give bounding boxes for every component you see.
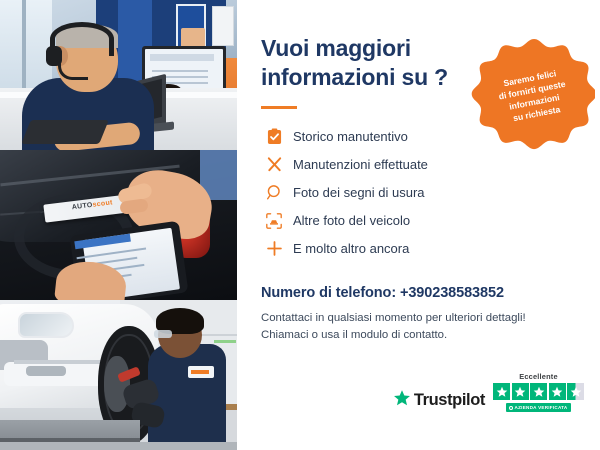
star-filled-icon (493, 383, 510, 400)
contact-subtext-line-1: Contattaci in qualsiasi momento per ulte… (261, 310, 578, 327)
feature-label: Altre foto del veicolo (293, 213, 410, 228)
feature-label: Storico manutentivo (293, 129, 408, 144)
phone-number[interactable]: Numero di telefono: +390238583852 (261, 285, 578, 301)
callout-badge: Saremo felici di fornirti queste informa… (471, 33, 595, 157)
plus-icon (261, 240, 287, 257)
page-title-line-2: informazioni su ? (261, 64, 448, 90)
trustpilot-logo: Trustpilot (393, 389, 485, 412)
star-half-icon (567, 383, 584, 400)
feature-label: E molto altro ancora (293, 241, 409, 256)
star-filled-icon (549, 383, 566, 400)
magnifier-icon (261, 184, 287, 201)
trustpilot-stars (493, 383, 584, 400)
star-filled-icon (512, 383, 529, 400)
call-center-agents-photo (0, 0, 237, 150)
tools-cross-icon (261, 156, 287, 173)
page-title-line-1: Vuoi maggiori (261, 35, 411, 61)
feature-item-molto-altro: E molto altro ancora (261, 235, 578, 263)
promo-card: AUTOscout (0, 0, 600, 450)
feature-item-altre-foto-veicolo: Altre foto del veicolo (261, 207, 578, 235)
trustpilot-score-block: Eccellente (493, 372, 584, 412)
verified-business-label: AZIENDA VERIFICATA (515, 405, 568, 410)
callout-badge-text: Saremo felici di fornirti queste informa… (477, 62, 588, 130)
scan-car-icon (261, 212, 287, 230)
star-filled-icon (530, 383, 547, 400)
car-inspection-tablet-photo: AUTOscout (0, 150, 237, 300)
trustpilot-wordmark: Trustpilot (414, 391, 485, 410)
page-title: Vuoi maggiori informazioni su ? (261, 34, 491, 93)
feature-label: Manutenzioni effettuate (293, 157, 428, 172)
trustpilot-star-icon (393, 389, 411, 412)
title-divider (261, 106, 297, 109)
photo-column: AUTOscout (0, 0, 237, 450)
feature-item-foto-segni-usura: Foto dei segni di usura (261, 179, 578, 207)
trustpilot-rating-label: Eccellente (519, 372, 558, 381)
contact-subtext: Contattaci in qualsiasi momento per ulte… (261, 310, 578, 344)
check-circle-icon (509, 406, 513, 410)
workshop-tire-check-photo (0, 300, 237, 450)
clipboard-check-icon (261, 128, 287, 145)
content-panel: Vuoi maggiori informazioni su ? Saremo f… (237, 0, 600, 450)
contact-subtext-line-2: Chiamaci o usa il modulo di contatto. (261, 327, 578, 344)
trustpilot-rating[interactable]: Trustpilot Eccellente (393, 372, 584, 412)
verified-business-badge: AZIENDA VERIFICATA (506, 403, 572, 412)
feature-label: Foto dei segni di usura (293, 185, 425, 200)
